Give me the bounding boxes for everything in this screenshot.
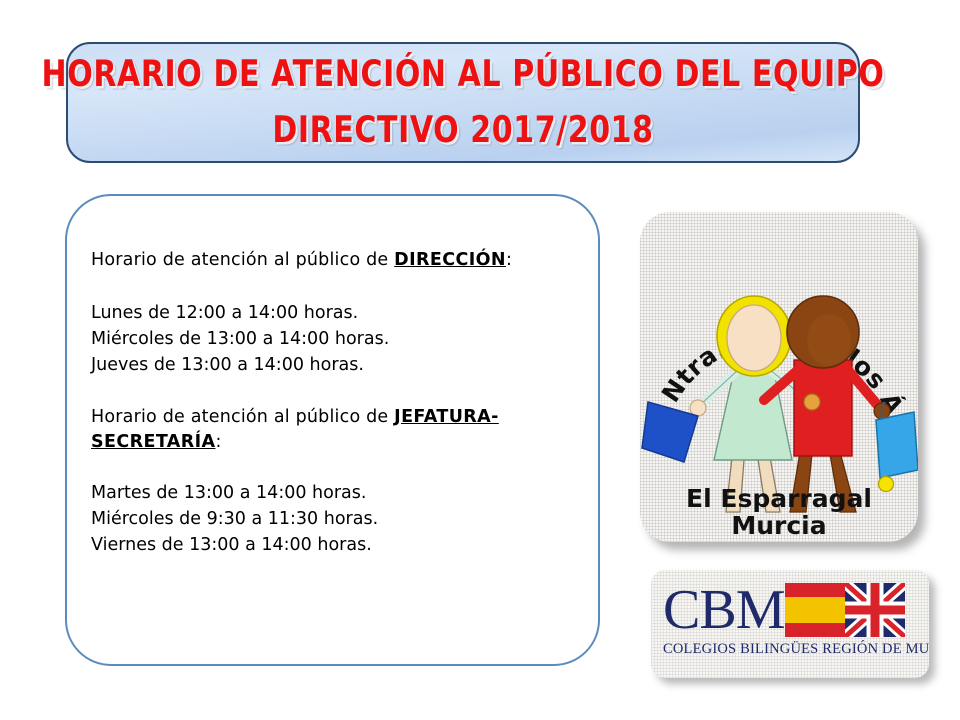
list-item: Jueves de 13:00 a 14:00 horas. — [91, 353, 580, 379]
girl-bag-icon — [642, 402, 698, 462]
jefatura-heading-prefix: Horario de atención al público de — [91, 407, 394, 427]
schedule-content: Horario de atención al público de DIRECC… — [91, 248, 580, 558]
list-item: Lunes de 12:00 a 14:00 horas. — [91, 301, 580, 327]
spacer — [91, 379, 580, 405]
page-title-line-2: DIRECTIVO 2017/2018 — [272, 107, 653, 152]
jefatura-heading: Horario de atención al público de JEFATU… — [91, 405, 580, 456]
boy-bag-icon — [876, 412, 918, 478]
jefatura-hours-list: Martes de 13:00 a 14:00 horas. Miércoles… — [91, 481, 580, 558]
direccion-heading-prefix: Horario de atención al público de — [91, 250, 394, 270]
spacer — [91, 275, 580, 301]
cbm-logo-inner: CBM COLEGIOS BILINGÜES REGIÓN DE MURCIA — [663, 582, 917, 668]
direccion-hours-list: Lunes de 12:00 a 14:00 horas. Miércoles … — [91, 301, 580, 378]
united-kingdom-flag-icon — [845, 583, 905, 637]
list-item: Martes de 13:00 a 14:00 horas. — [91, 481, 580, 507]
list-item: Miércoles de 9:30 a 11:30 horas. — [91, 507, 580, 533]
logo-place-line-1: El Esparragal — [686, 484, 872, 513]
cbm-logo-row: CBM — [663, 582, 917, 638]
direccion-heading-suffix: : — [506, 250, 512, 270]
list-item: Viernes de 13:00 a 14:00 horas. — [91, 533, 580, 559]
list-item: Miércoles de 13:00 a 14:00 horas. — [91, 327, 580, 353]
logo-place-line-2: Murcia — [731, 511, 826, 540]
page-title-line-1: HORARIO DE ATENCIÓN AL PÚBLICO DEL EQUIP… — [42, 52, 885, 97]
spain-flag-icon — [785, 583, 845, 637]
spacer — [91, 457, 580, 481]
title-banner: HORARIO DE ATENCIÓN AL PÚBLICO DEL EQUIP… — [66, 42, 860, 163]
jefatura-heading-suffix: : — [215, 432, 221, 452]
direccion-heading: Horario de atención al público de DIRECC… — [91, 248, 580, 273]
cbm-subtitle: COLEGIOS BILINGÜES REGIÓN DE MURCIA — [663, 641, 917, 658]
cbm-logo: CBM COLEGIOS BILINGÜES REGIÓN DE MURCIA — [651, 570, 929, 678]
cbm-wordmark: CBM — [663, 582, 785, 638]
schedule-panel: Horario de atención al público de DIRECC… — [65, 194, 600, 666]
school-logo: C.E.I.P. Ntra. Sra. de los Ángeles — [640, 212, 918, 542]
direccion-heading-emphasis: DIRECCIÓN — [394, 250, 506, 270]
